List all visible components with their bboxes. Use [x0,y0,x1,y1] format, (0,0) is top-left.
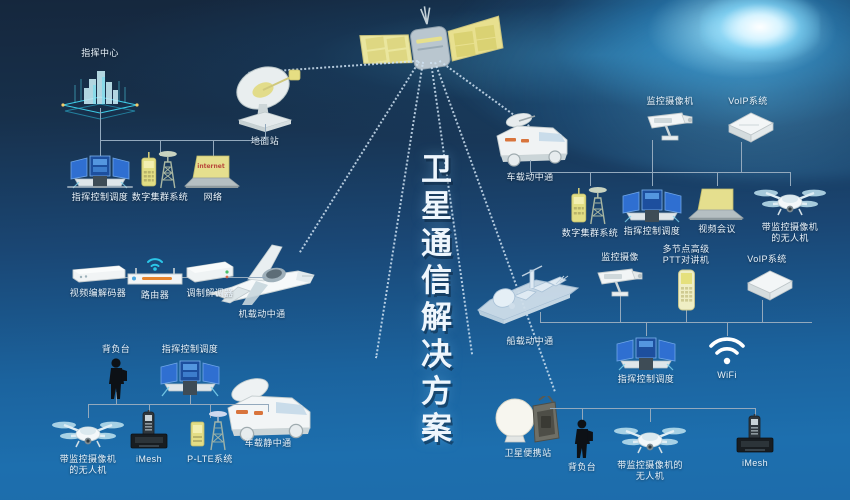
connector [727,322,728,336]
modem-icon [181,258,239,286]
node-label: 视频会议 [688,224,746,235]
node-label: 带监控摄像机的 无人机 [613,460,687,482]
ss-child-ptt: 多节点高级 PTT对讲机 [662,244,709,312]
man-backpack-icon [568,418,596,460]
node-label: 多节点高级 PTT对讲机 [662,244,709,266]
connector [268,404,269,412]
vs-child-trunking: 数字集群系统 [562,184,618,239]
node-label: WiFi [705,370,749,381]
ss-child-command-console: 指挥控制调度 [609,334,683,385]
node-label: 指挥控制调度 [609,374,683,385]
connector [540,312,541,323]
connector [741,142,742,173]
connector [762,300,763,323]
node-label: 背负台 [568,462,596,473]
gs-child-network: internet 网络 [183,152,243,203]
node-label: 指挥控制调度 [615,226,689,237]
title-char: 决 [403,337,471,374]
vst-child-backpack: 背负台 [101,344,131,401]
node-label: 路由器 [122,290,188,301]
vst-child-plte: P-LTE系统 [185,408,235,465]
vs-child-drone: 带监控摄像机 的无人机 [753,182,827,244]
camera-drone-icon [753,182,827,220]
node-label: 指挥控制调度 [153,344,227,355]
ptt-handset-icon [672,268,700,312]
connector [88,404,268,405]
node-label: iMesh [733,458,777,469]
title-char: 卫 [403,152,471,189]
vst-child-imesh: iMesh [127,410,171,465]
portable-station-node: 卫星便携站 [489,396,567,459]
node-label: 数字集群系统 [132,192,188,203]
command-console-icon [153,357,227,399]
ps-child-backpack: 背负台 [568,418,596,473]
ship-sotm-node: 船载动中通 [474,262,586,347]
wifi-router-icon [122,252,188,288]
imesh-radio-icon [127,410,171,452]
ss-child-cctv: 监控摄像 [592,252,648,299]
node-label: 背负台 [101,344,131,355]
ps-child-imesh: iMesh [733,414,777,469]
laptop-internet-icon: internet [183,152,243,190]
man-backpack-icon [101,357,131,401]
trunking-radio-tower-icon [134,148,186,190]
connector [717,172,718,186]
sun-flare-icon [700,0,820,62]
camera-drone-icon [613,420,687,458]
svg-text:internet: internet [197,163,225,170]
title-char: 通 [403,226,471,263]
vs-child-video-conference: 视频会议 [688,186,746,235]
portable-satellite-station-icon [489,396,567,446]
vs-child-cctv: 监控摄像机 [642,96,698,143]
naval-ship-icon [474,262,586,334]
connector [652,172,653,186]
cctv-camera-icon [642,109,698,143]
wifi-icon [705,336,749,368]
node-label: 带监控摄像机 的无人机 [753,222,827,244]
vst-child-drone: 带监控摄像机 的无人机 [51,414,125,476]
node-label: 带监控摄像机 的无人机 [51,454,125,476]
ship-sotm-label: 船载动中通 [474,336,586,347]
connector [530,160,531,173]
laptop-video-conference-icon [688,186,746,222]
ss-child-voip: VoIP系统 [736,254,798,303]
as-child-router: 路由器 [122,252,188,301]
as-child-modem: 调制解调器 [181,258,239,299]
title-char: 星 [403,189,471,226]
title-char: 解 [403,300,471,337]
portable-station-label: 卫星便携站 [489,448,567,459]
beam-to-airborne [299,61,420,253]
cctv-camera-icon [592,265,648,299]
node-label: 指挥控制调度 [63,192,137,203]
voip-box-icon [717,109,779,145]
vs-child-voip: VoIP系统 [717,96,779,145]
connector [100,108,101,140]
node-label: 监控摄像 [592,252,648,263]
vs-child-command-console: 指挥控制调度 [615,186,689,237]
connector [540,322,812,323]
title-char: 案 [403,411,471,448]
connector [550,408,755,409]
ps-child-drone: 带监控摄像机的 无人机 [613,420,687,482]
node-label: 监控摄像机 [642,96,698,107]
node-label: 调制解调器 [181,288,239,299]
p-lte-tower-icon [185,408,235,452]
video-codec-icon [67,262,129,286]
node-label: 网络 [183,192,243,203]
vehicle-sotm-label: 车载动中通 [483,172,577,183]
vst-child-command-console: 指挥控制调度 [153,344,227,399]
title-char: 信 [403,263,471,300]
airborne-sotm-label: 机载动中通 [202,309,322,320]
command-console-icon [609,334,683,372]
command-center-label: 指挥中心 [57,48,143,59]
command-console-icon [63,152,137,190]
connector [265,124,266,141]
connector [652,140,653,173]
infographic-canvas: 卫 星 通 信 解 决 方 案 指挥中心 [0,0,850,500]
command-console-icon [615,186,689,224]
gs-child-command-console: 指挥控制调度 [63,152,137,203]
connector [530,172,790,173]
page-title: 卫 星 通 信 解 决 方 案 [403,152,471,448]
node-label: 视频编解码器 [67,288,129,299]
connector [100,140,265,141]
trunking-radio-tower-icon [564,184,616,226]
ss-child-wifi: WiFi [705,336,749,381]
title-char: 方 [403,374,471,411]
imesh-radio-icon [733,414,777,456]
voip-box-icon [736,267,798,303]
node-label: VoIP系统 [717,96,779,107]
node-label: iMesh [127,454,171,465]
gs-child-trunking: 数字集群系统 [132,148,188,203]
camera-drone-icon [51,414,125,452]
node-label: VoIP系统 [736,254,798,265]
satellite-icon [340,6,520,86]
node-label: 数字集群系统 [562,228,618,239]
node-label: P-LTE系统 [185,454,235,465]
as-child-codec: 视频编解码器 [67,262,129,299]
